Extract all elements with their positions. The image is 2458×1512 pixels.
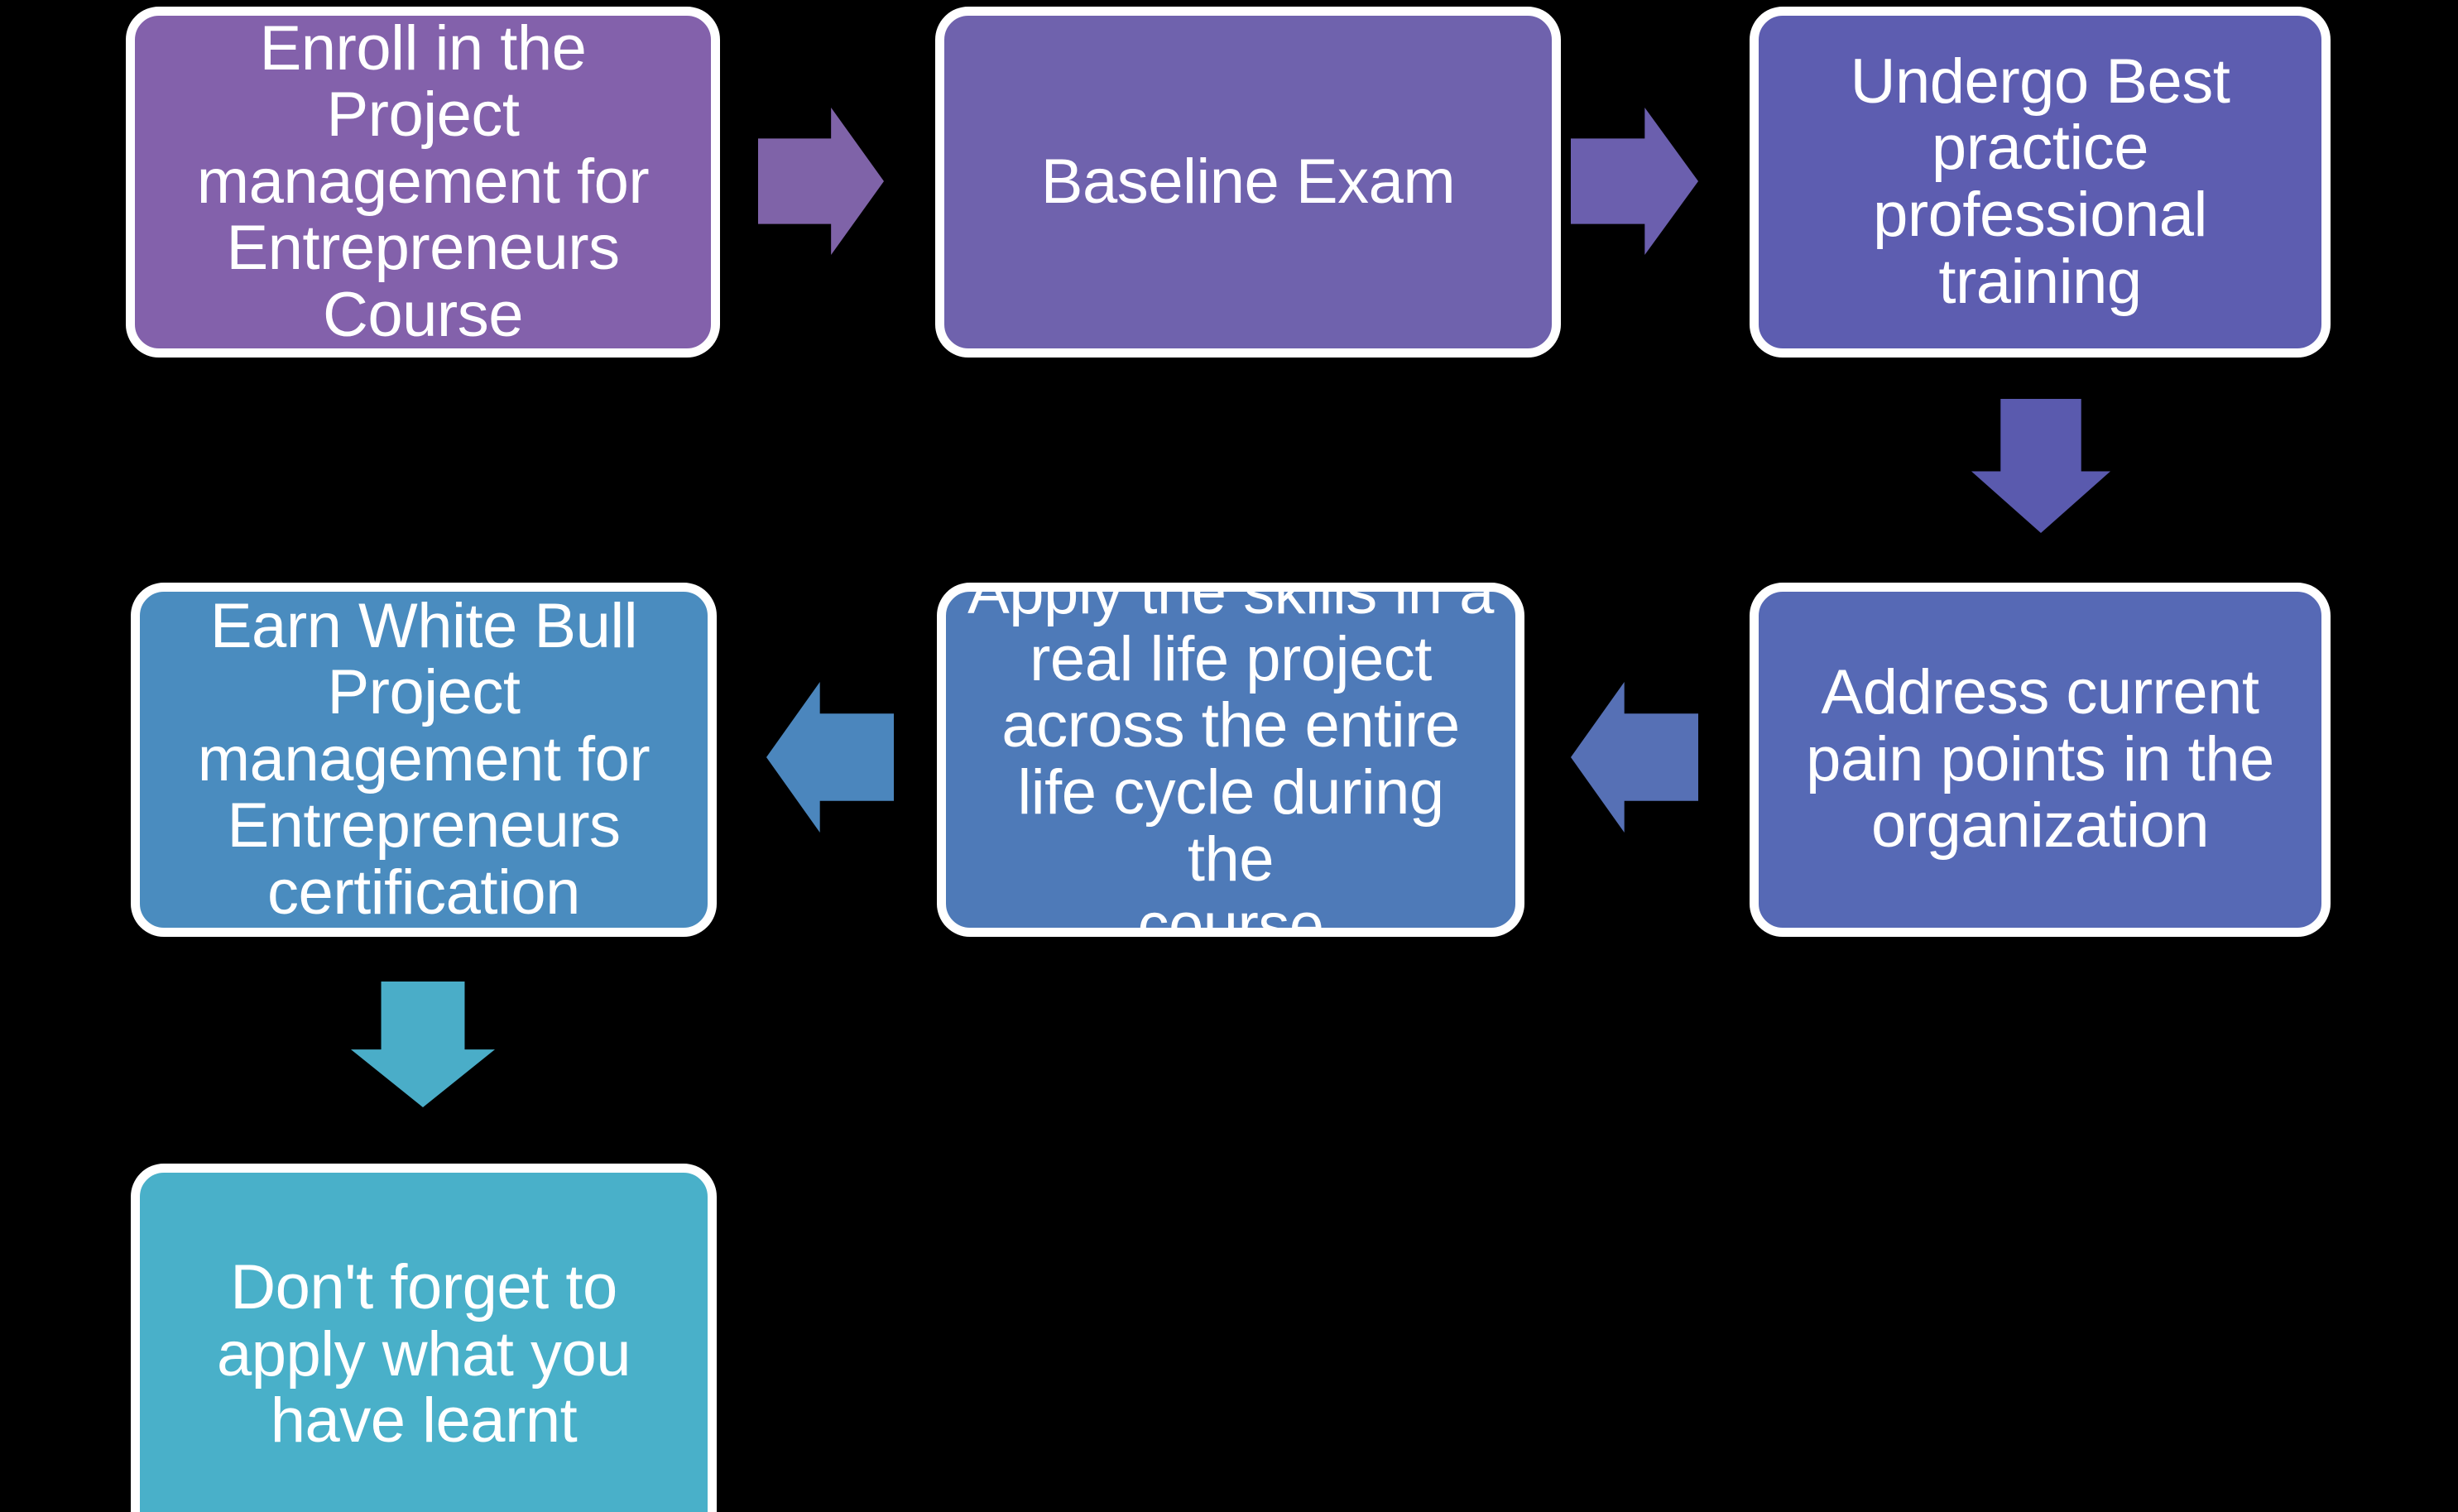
flow-node-apply-skills[interactable]: Apply the skills in a real life project … [937,583,1524,937]
flow-node-best-practice-training[interactable]: Undergo Best practice professional train… [1750,7,2331,358]
arrow-right-icon-baseline-to-training [1571,108,1698,255]
arrow-left-icon-apply-to-certify [766,682,894,833]
arrow-down-icon-training-to-painpoints [1971,399,2110,533]
arrow-right-icon-enroll-to-baseline [758,108,884,255]
flow-node-address-pain-points[interactable]: Address current pain points in the organ… [1750,583,2331,937]
flow-node-enroll[interactable]: Enroll in the Project management for Ent… [126,7,720,358]
flow-node-baseline-exam[interactable]: Baseline Exam [935,7,1561,358]
flow-node-earn-certification[interactable]: Earn White Bull Project management for E… [131,583,717,937]
flowchart-canvas: Enroll in the Project management for Ent… [0,0,2458,1512]
arrow-left-icon-painpoints-to-apply [1571,682,1698,833]
arrow-down-icon-certify-to-remember [351,982,495,1107]
flow-node-remember-to-apply[interactable]: Don't forget to apply what you have lear… [131,1164,717,1512]
